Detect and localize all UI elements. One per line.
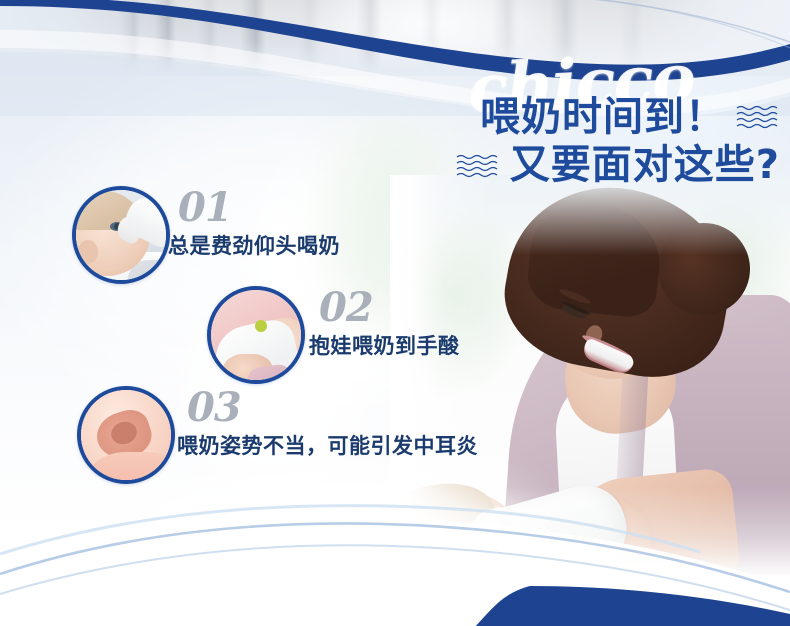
headline-line-1: 喂奶时间到！ [480, 96, 726, 138]
feature-number-02: 02 [319, 288, 460, 328]
baby-ear-closeup-photo [81, 390, 171, 480]
feature-photo-03 [77, 386, 175, 484]
wavy-lines-icon [736, 104, 780, 130]
feature-number-03: 03 [187, 388, 478, 428]
feature-item-03: 03 喂奶姿势不当，可能引发中耳炎 [77, 386, 478, 484]
feature-label-03: 喂奶姿势不当，可能引发中耳炎 [177, 430, 478, 460]
feature-label-01: 总是费劲仰头喝奶 [168, 230, 340, 260]
cityscape-mask-left [0, 0, 150, 76]
feature-item-01: 01 总是费劲仰头喝奶 [72, 186, 340, 284]
feature-photo-02 [207, 286, 305, 384]
feature-label-02: 抱娃喂奶到手酸 [309, 330, 460, 360]
headline-row-1: 喂奶时间到！ [430, 96, 780, 138]
feature-number-01: 01 [178, 188, 340, 228]
feature-photo-01 [72, 186, 170, 284]
feature-text-01: 01 总是费劲仰头喝奶 [168, 186, 340, 260]
feature-text-03: 03 喂奶姿势不当，可能引发中耳炎 [177, 386, 478, 460]
wavy-lines-icon [456, 153, 500, 179]
headline-line-2: 又要面对这些? [510, 144, 780, 186]
baby-ear [78, 240, 98, 264]
mother-holding-baby-photo [211, 290, 301, 380]
baby-drinking-bottle-photo [76, 190, 166, 280]
feature-item-02: 02 抱娃喂奶到手酸 [207, 286, 460, 384]
promo-banner: chicco 喂奶时间到！ [0, 0, 790, 626]
pacifier-dot [255, 320, 267, 332]
background-blur-blob [120, 470, 540, 626]
headline-row-2: 又要面对这些? [430, 144, 780, 186]
feature-text-02: 02 抱娃喂奶到手酸 [309, 286, 460, 360]
headline-block: 喂奶时间到！ 又要面对这些? [430, 96, 780, 187]
